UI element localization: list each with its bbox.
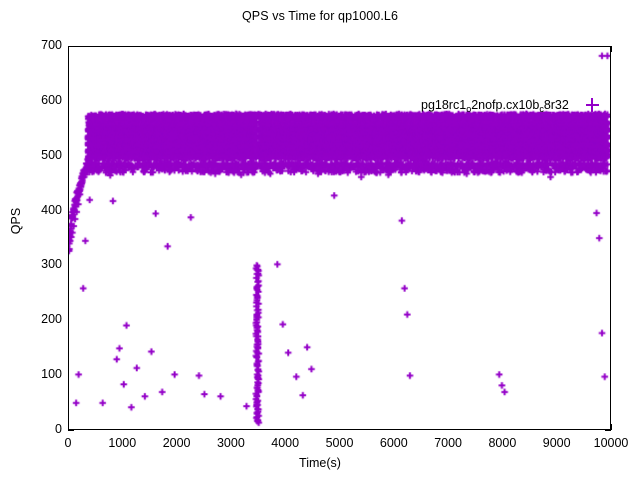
y-tick-label: 500 xyxy=(8,148,62,162)
y-tick-label: 300 xyxy=(8,257,62,271)
x-tick-label: 7000 xyxy=(434,436,462,450)
x-tick-label: 8000 xyxy=(488,436,516,450)
chart-page: QPS vs Time for qp1000.L6 QPS Time(s) 01… xyxy=(0,0,640,480)
legend-label: pg18rc1o2nofp.cx10bc8r32 xyxy=(421,98,569,112)
x-tick-label: 9000 xyxy=(543,436,571,450)
y-tick-label: 700 xyxy=(8,38,62,52)
y-tick-label: 100 xyxy=(8,367,62,381)
x-tick-label: 0 xyxy=(65,436,72,450)
y-tick-label: 600 xyxy=(8,93,62,107)
x-tick-label: 10000 xyxy=(594,436,629,450)
legend: pg18rc1o2nofp.cx10bc8r32 xyxy=(421,93,605,117)
plot-area: pg18rc1o2nofp.cx10bc8r32 xyxy=(68,46,611,430)
y-tick-right xyxy=(605,430,611,431)
x-tick-label: 4000 xyxy=(271,436,299,450)
x-tick-label: 6000 xyxy=(380,436,408,450)
y-tick-label: 200 xyxy=(8,312,62,326)
x-tick-label: 1000 xyxy=(108,436,136,450)
legend-plus-marker-icon xyxy=(579,98,605,112)
x-tick-label: 2000 xyxy=(163,436,191,450)
x-tick xyxy=(611,424,612,430)
y-tick-label: 400 xyxy=(8,203,62,217)
y-tick-label: 0 xyxy=(8,422,62,436)
x-tick-label: 3000 xyxy=(217,436,245,450)
x-tick-top xyxy=(611,46,612,52)
y-tick xyxy=(68,430,74,431)
x-tick-label: 5000 xyxy=(326,436,354,450)
